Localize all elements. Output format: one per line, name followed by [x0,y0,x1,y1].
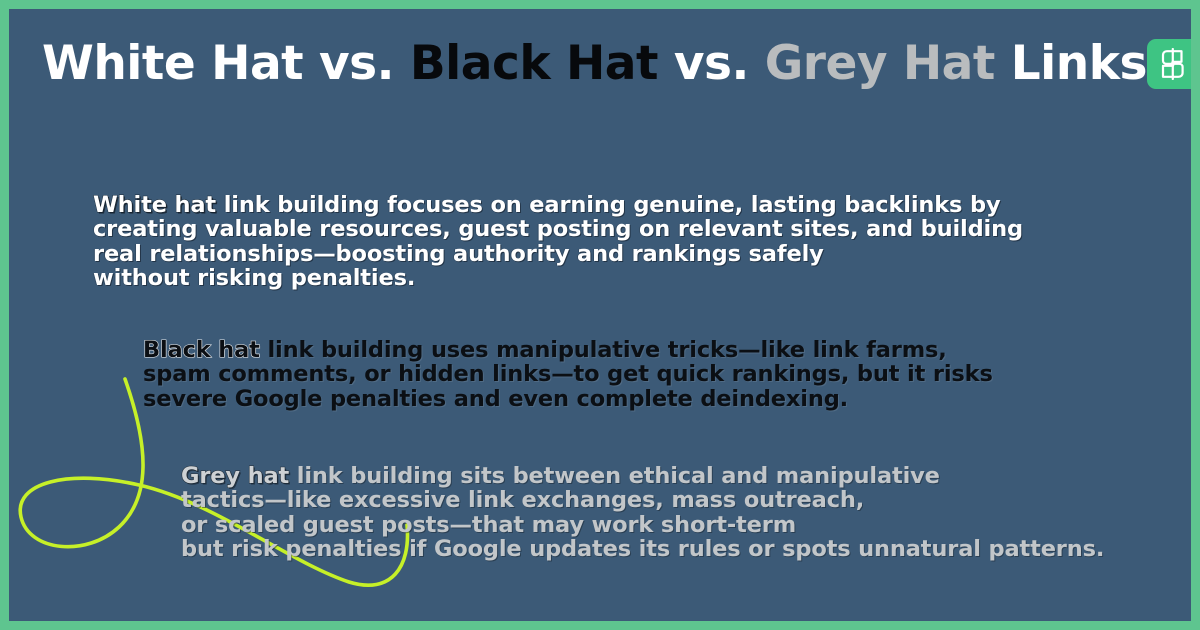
paragraph-grey-hat: Grey hat link building sits between ethi… [181,464,1191,562]
paragraph-grey-hat-text: link building sits between ethical and m… [181,463,1104,563]
content-panel: White Hat vs. Black Hat vs. Grey Hat Lin… [9,9,1191,621]
label-black-hat: Black hat [143,337,260,363]
paragraph-black-hat: Black hat link building uses manipulativ… [143,338,1153,412]
semrush-s-logo-icon [1160,48,1186,80]
title-separator-1: vs. [303,36,410,91]
semrush-logo-badge[interactable] [1147,39,1191,89]
title-part-grey-hat: Grey Hat [765,36,995,91]
header: White Hat vs. Black Hat vs. Grey Hat Lin… [42,25,1167,103]
paragraph-white-hat-text: link building focuses on earning genuine… [93,192,1023,292]
paragraph-white-hat: White hat link building focuses on earni… [93,193,1153,291]
label-grey-hat: Grey hat [181,463,289,489]
title-separator-2: vs. [658,36,765,91]
paragraph-black-hat-text: link building uses manipulative tricks—l… [143,337,993,412]
title-part-links: Links [995,36,1147,91]
infographic-canvas: White Hat vs. Black Hat vs. Grey Hat Lin… [0,0,1200,630]
title-part-black-hat: Black Hat [410,36,658,91]
page-title: White Hat vs. Black Hat vs. Grey Hat Lin… [42,39,1147,88]
title-part-white-hat: White Hat [42,36,303,91]
label-white-hat: White hat [93,192,216,218]
